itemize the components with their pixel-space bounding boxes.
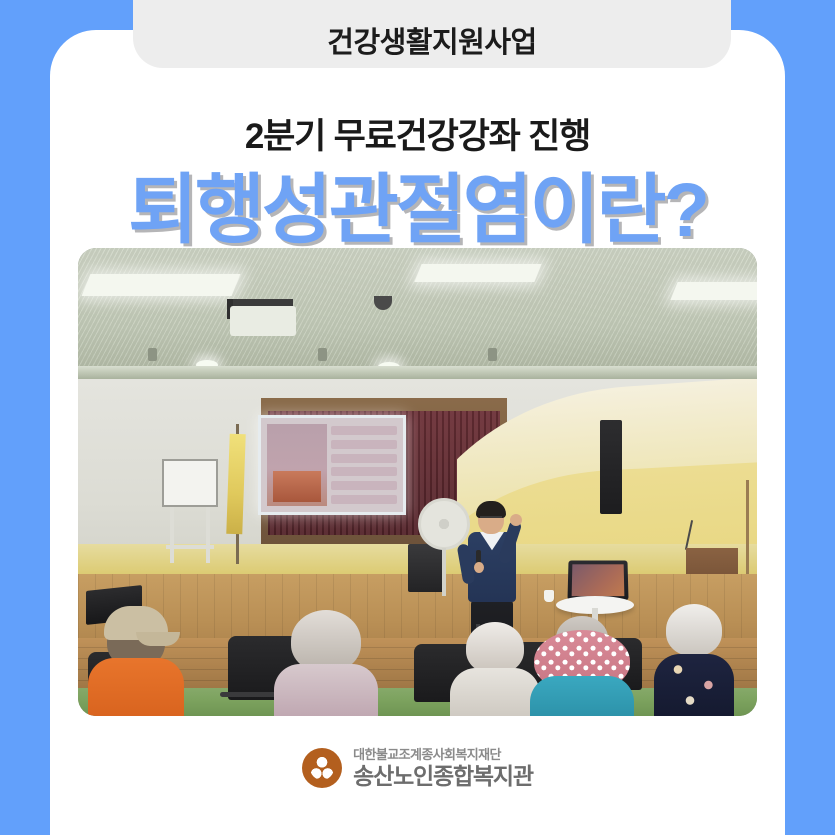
sprinkler	[318, 348, 327, 361]
three-dot-circle-icon	[302, 748, 342, 788]
monitor-speaker	[408, 544, 446, 592]
audience-member	[450, 622, 540, 716]
page-title: 퇴행성관절염이란?	[50, 170, 785, 252]
column-speaker	[600, 420, 622, 514]
photo-scene	[78, 248, 757, 716]
ceiling	[78, 248, 757, 380]
slide-bullet	[331, 454, 397, 463]
audience-head	[466, 622, 524, 674]
laptop	[567, 560, 628, 600]
audience-member	[274, 610, 378, 716]
audience-head	[666, 604, 722, 656]
paper-cup	[544, 590, 554, 602]
poster-card: 2분기 무료건강강좌 진행 퇴행성관절염이란?	[50, 30, 785, 835]
presenter-mic-hand	[474, 562, 484, 573]
poster-canvas: 2분기 무료건강강좌 진행 퇴행성관절염이란?	[0, 0, 835, 835]
slide-bullet	[331, 467, 397, 476]
slide-bullet	[331, 495, 397, 504]
ceiling-light	[670, 282, 757, 300]
category-tab-label: 건강생활지원사업	[327, 29, 536, 58]
cap-brim	[136, 632, 180, 646]
audience-body	[530, 676, 634, 716]
whiteboard-crossbar	[166, 545, 214, 549]
poster-subtitle: 2분기 무료건강강좌 진행	[50, 119, 785, 154]
foundation-name: 대한불교조계종사회복지재단	[353, 748, 533, 761]
ceiling-light	[82, 274, 241, 296]
audience-body	[88, 658, 184, 716]
footer-branding: 대한불교조계종사회복지재단 송산노인종합복지관	[50, 748, 785, 788]
audience-body	[450, 668, 540, 716]
sprinkler	[148, 348, 157, 361]
whiteboard-stand	[166, 507, 214, 563]
audience-member	[530, 614, 634, 716]
presenter-raised-hand	[510, 514, 522, 526]
ceiling-light	[414, 264, 541, 282]
audience-head	[291, 610, 361, 672]
audience-member	[654, 604, 734, 716]
slide-bullet	[331, 481, 397, 490]
audience-body	[274, 664, 378, 716]
slide-bullet	[331, 426, 397, 435]
sprinkler	[488, 348, 497, 361]
presenter-glasses	[480, 516, 502, 523]
slide-title-panel	[267, 424, 327, 506]
event-photo	[78, 248, 757, 716]
center-name: 송산노인종합복지관	[353, 765, 533, 788]
whiteboard	[162, 459, 218, 507]
fan-pole	[442, 548, 446, 596]
ceiling-projector	[230, 306, 296, 336]
slide-bullet-panel	[331, 424, 397, 506]
laptop-screen	[572, 564, 625, 596]
category-tab: 건강생활지원사업	[133, 0, 731, 68]
ceiling-beam	[78, 366, 757, 379]
logo-text-block: 대한불교조계종사회복지재단 송산노인종합복지관	[353, 748, 533, 788]
audience-member	[88, 600, 184, 716]
projection-screen	[258, 415, 406, 515]
audience-body	[654, 654, 734, 716]
slide-bullet	[331, 440, 397, 449]
